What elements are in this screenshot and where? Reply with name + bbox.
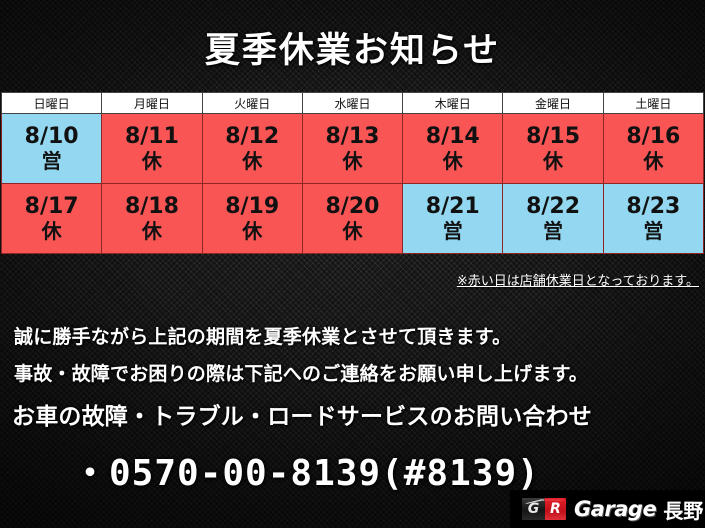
calendar-day-cell: 8/10 営 [2,114,102,184]
holiday-calendar: 日曜日 月曜日 火曜日 水曜日 木曜日 金曜日 土曜日 8/10 営 8/11 [1,92,704,254]
day-date: 8/14 [403,119,502,149]
day-date: 8/21 [403,189,502,219]
weekday-header-friday: 金曜日 [503,93,603,114]
calendar-day-cell: 8/19 休 [202,184,302,254]
day-date: 8/22 [503,189,602,219]
gr-badge-letter-g: G [522,498,545,520]
weekday-header-sunday: 日曜日 [2,93,102,114]
logo-location-text: 長野 [663,495,703,524]
day-status-mark: 休 [203,219,302,248]
day-status-mark: 休 [604,149,703,178]
calendar-week-row: 8/17 休 8/18 休 8/19 休 8/20 休 [2,184,704,254]
day-status-mark: 営 [403,219,502,248]
notice-text-line-2: 事故・故障でお困りの際は下記へのご連絡をお願い申し上げます。 [14,359,588,386]
day-date: 8/19 [203,189,302,219]
day-date: 8/10 [2,119,101,149]
day-status-mark: 休 [2,219,101,248]
page-title: 夏季休業お知らせ [0,22,705,73]
day-status-mark: 休 [102,149,201,178]
day-date: 8/20 [303,189,402,219]
day-date: 8/17 [2,189,101,219]
calendar-day-cell: 8/21 営 [403,184,503,254]
day-date: 8/13 [303,119,402,149]
day-status-mark: 休 [203,149,302,178]
day-status-mark: 営 [503,219,602,248]
day-date: 8/23 [604,189,703,219]
weekday-header-monday: 月曜日 [102,93,202,114]
day-date: 8/12 [203,119,302,149]
calendar-day-cell: 8/13 休 [302,114,402,184]
day-date: 8/16 [604,119,703,149]
calendar-legend-note: ※赤い日は店舗休業日となっております。 [457,270,699,289]
calendar-header-row: 日曜日 月曜日 火曜日 水曜日 木曜日 金曜日 土曜日 [2,93,704,114]
day-status-mark: 営 [604,219,703,248]
day-status-mark: 休 [303,149,402,178]
calendar-day-cell: 8/17 休 [2,184,102,254]
day-date: 8/15 [503,119,602,149]
day-status-mark: 休 [303,219,402,248]
weekday-header-thursday: 木曜日 [403,93,503,114]
logo-brand-text: Garage [574,497,656,521]
notice-text-line-1: 誠に勝手ながら上記の期間を夏季休業とさせて頂きます。 [14,322,511,349]
calendar-day-cell: 8/23 営 [603,184,703,254]
gr-badge-icon: G R [522,498,566,520]
calendar-table: 日曜日 月曜日 火曜日 水曜日 木曜日 金曜日 土曜日 8/10 営 8/11 [1,92,704,254]
weekday-header-tuesday: 火曜日 [202,93,302,114]
day-date: 8/11 [102,119,201,149]
weekday-header-wednesday: 水曜日 [302,93,402,114]
day-status-mark: 休 [403,149,502,178]
contact-phone-number: ・0570-00-8139(#8139) [72,444,540,496]
gr-garage-logo: G R Garage 長野 [510,490,705,528]
calendar-day-cell: 8/20 休 [302,184,402,254]
calendar-week-row: 8/10 営 8/11 休 8/12 休 8/13 休 [2,114,704,184]
calendar-day-cell: 8/22 営 [503,184,603,254]
day-date: 8/18 [102,189,201,219]
summer-holiday-notice-poster: 夏季休業お知らせ 日曜日 月曜日 火曜日 水曜日 木曜日 金曜日 土曜日 8/1… [0,0,705,528]
contact-headline: お車の故障・トラブル・ロードサービスのお問い合わせ [12,397,592,431]
calendar-day-cell: 8/15 休 [503,114,603,184]
calendar-day-cell: 8/16 休 [603,114,703,184]
calendar-day-cell: 8/18 休 [102,184,202,254]
calendar-day-cell: 8/12 休 [202,114,302,184]
gr-badge-letter-r: R [545,498,566,520]
calendar-day-cell: 8/14 休 [403,114,503,184]
day-status-mark: 営 [2,149,101,178]
day-status-mark: 休 [102,219,201,248]
day-status-mark: 休 [503,149,602,178]
calendar-day-cell: 8/11 休 [102,114,202,184]
weekday-header-saturday: 土曜日 [603,93,703,114]
